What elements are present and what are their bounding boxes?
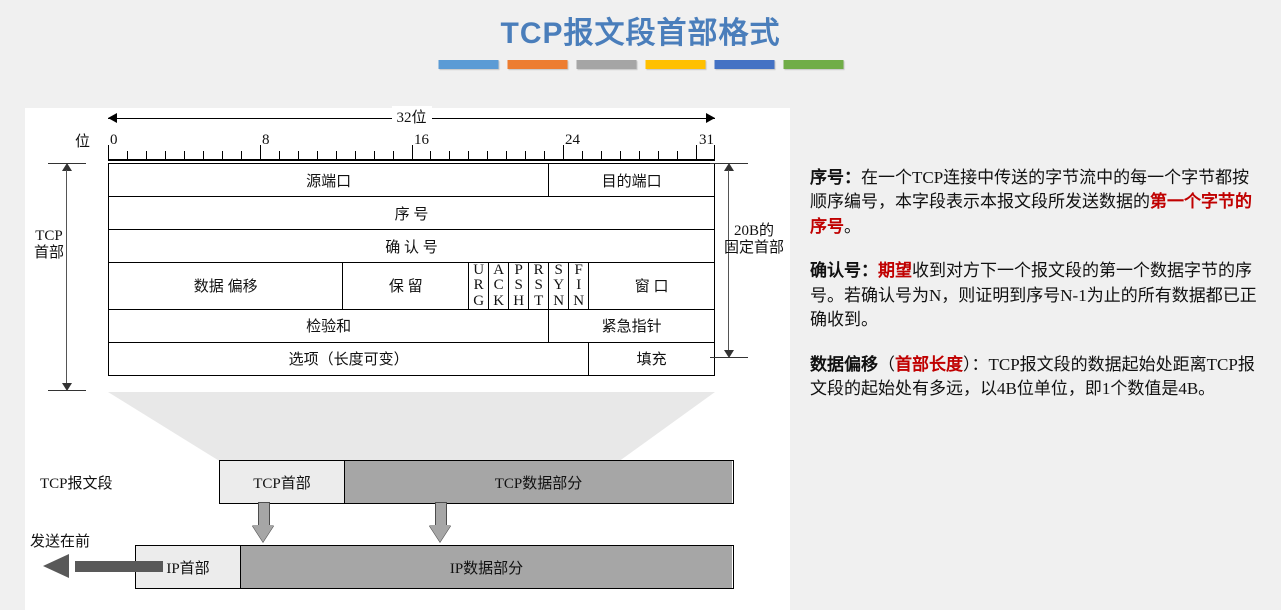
flag-letter: T [529, 294, 548, 309]
table-row: 检验和 紧急指针 [109, 309, 715, 342]
ruler-tick [260, 145, 261, 159]
flag-fin: FIN [569, 263, 589, 310]
note-text: 。 [844, 217, 861, 236]
flag-letter: C [489, 278, 508, 293]
flag-ack: ACK [489, 263, 509, 310]
slide-header: TCP报文段首部格式 [0, 0, 1281, 92]
ruler-tick [525, 151, 526, 159]
accent-bar-6 [783, 60, 843, 69]
ruler-label-31: 31 [699, 132, 714, 149]
bit-axis-label: 位 [75, 130, 90, 151]
field-destination-port: 目的端口 [549, 164, 715, 197]
ruler-tick [393, 151, 394, 159]
ruler-tick [696, 145, 697, 159]
table-row: 确 认 号 [109, 230, 715, 263]
ruler-tick [146, 151, 147, 159]
field-data-offset-line1: 数据 [194, 279, 224, 295]
tcp-header-block: TCP首部 [220, 461, 344, 503]
ip-datagram-row: IP首部 IP数据部分 [135, 545, 734, 589]
accent-bar-1 [438, 60, 498, 69]
ruler-tick [222, 151, 223, 159]
field-acknowledgement-number: 确 认 号 [109, 230, 715, 263]
tcp-header-span-line1: TCP [21, 228, 77, 245]
ruler-tick [203, 151, 204, 159]
flag-rst: RST [529, 263, 549, 310]
tcp-segment-row: TCP首部 TCP数据部分 [219, 460, 734, 504]
ruler-tick [449, 151, 450, 159]
field-data-offset: 数据 偏移 [109, 263, 343, 310]
note-paragraph-3: 数据偏移（首部长度）：TCP报文段的数据起始处距离TCP报文段的起始处有多远，以… [810, 353, 1265, 402]
flag-letter: S [549, 263, 568, 278]
flag-letter: G [469, 294, 488, 309]
flag-letter: K [489, 294, 508, 309]
flag-syn: SYN [549, 263, 569, 310]
field-source-port: 源端口 [109, 164, 549, 197]
ruler-tick [506, 151, 507, 159]
flag-letter: H [509, 294, 528, 309]
note-term: 序号： [810, 168, 861, 187]
ruler-tick [487, 151, 488, 159]
ip-data-block: IP数据部分 [240, 546, 732, 588]
flag-letter: F [569, 263, 588, 278]
flag-urg: URG [469, 263, 489, 310]
field-urgent-pointer: 紧急指针 [549, 309, 715, 342]
send-direction-arrow [43, 554, 163, 578]
tcp-data-block: TCP数据部分 [344, 461, 732, 503]
field-reserved: 保 留 [343, 263, 469, 310]
tcp-header-table: 源端口 目的端口 序 号 确 认 号 数据 偏移 保 留 URG ACK PSH… [108, 163, 715, 376]
ruler-tick [241, 151, 242, 159]
accent-bar-4 [645, 60, 705, 69]
ruler-tick [639, 151, 640, 159]
ruler-label-8: 8 [262, 132, 270, 149]
tcp-header-span-line2: 首部 [21, 245, 77, 262]
tcp-segment-row-label: TCP报文段 [40, 472, 113, 493]
tcp-header-span-label: TCP 首部 [21, 228, 77, 262]
field-sequence-number: 序 号 [109, 197, 715, 230]
accent-bar-5 [714, 60, 774, 69]
encapsulation-down-arrow-right [429, 502, 451, 542]
ruler-tick [601, 151, 602, 159]
width-arrow-label: 32位 [391, 106, 431, 127]
note-term: 确认号： [810, 261, 878, 280]
ruler-tick [677, 151, 678, 159]
ruler-tick [355, 151, 356, 159]
flag-letter: S [509, 278, 528, 293]
field-options: 选项（长度可变） [109, 342, 589, 375]
ruler-tick [127, 151, 128, 159]
notes-panel: 序号：在一个TCP连接中传送的字节流中的每一个字节都按顺序编号，本字段表示本报文… [810, 166, 1265, 422]
ruler-label-16: 16 [414, 132, 429, 149]
accent-bar-3 [576, 60, 636, 69]
flag-letter: R [469, 278, 488, 293]
ruler-tick [108, 145, 109, 159]
fixed-header-span-label: 20B的 固定首部 [715, 223, 793, 257]
fixed-header-span-arrow [723, 163, 735, 358]
field-window: 窗 口 [589, 263, 715, 310]
note-term: 数据偏移 [810, 355, 878, 374]
field-padding: 填充 [589, 342, 715, 375]
accent-bar-2 [507, 60, 567, 69]
ruler-label-0: 0 [110, 132, 118, 149]
flag-letter: U [469, 263, 488, 278]
ruler-tick [620, 151, 621, 159]
ruler-tick [298, 151, 299, 159]
ruler-tick [165, 151, 166, 159]
flag-letter: S [529, 278, 548, 293]
flag-letter: I [569, 278, 588, 293]
ruler-tick [582, 151, 583, 159]
ruler-tick [412, 145, 413, 159]
ruler-tick [336, 151, 337, 159]
ruler-tick [374, 151, 375, 159]
note-highlight: 期望 [878, 261, 912, 280]
page-title: TCP报文段首部格式 [0, 8, 1281, 52]
expansion-connector [108, 392, 715, 462]
flag-letter: P [509, 263, 528, 278]
fixed-header-span-line2: 固定首部 [715, 240, 793, 257]
ruler-tick [544, 151, 545, 159]
encapsulation-down-arrow-left [252, 502, 274, 542]
field-data-offset-line2: 偏移 [228, 279, 258, 295]
fixed-header-span-line1: 20B的 [715, 223, 793, 240]
ruler-tick [658, 151, 659, 159]
ruler-tick [279, 151, 280, 159]
bit-ruler: 08162431 [108, 132, 715, 162]
table-row: 序 号 [109, 197, 715, 230]
segment-width-arrow: 32位 [108, 110, 715, 128]
flag-psh: PSH [509, 263, 529, 310]
table-row: 选项（长度可变） 填充 [109, 342, 715, 375]
ruler-tick [430, 151, 431, 159]
note-paragraph-2: 确认号：期望收到对方下一个报文段的第一个数据字节的序号。若确认号为N，则证明到序… [810, 259, 1265, 332]
flag-letter: Y [549, 278, 568, 293]
tcp-header-span-arrow [61, 163, 73, 391]
ruler-tick [184, 151, 185, 159]
note-highlight: 首部长度 [895, 355, 963, 374]
note-paragraph-1: 序号：在一个TCP连接中传送的字节流中的每一个字节都按顺序编号，本字段表示本报文… [810, 166, 1265, 239]
accent-bar-group [438, 60, 843, 69]
ruler-tick [468, 151, 469, 159]
flag-letter: A [489, 263, 508, 278]
diagram-canvas: 位 32位 08162431 源端口 目的端口 序 号 确 认 号 数据 偏移 … [25, 108, 790, 610]
send-first-label: 发送在前 [30, 530, 90, 551]
ruler-tick [563, 145, 564, 159]
field-checksum: 检验和 [109, 309, 549, 342]
flag-letter: R [529, 263, 548, 278]
note-text: （ [878, 355, 895, 374]
flag-letter: N [569, 294, 588, 309]
ruler-label-24: 24 [565, 132, 580, 149]
table-row: 数据 偏移 保 留 URG ACK PSH RST SYN FIN 窗 口 [109, 263, 715, 310]
flag-letter: N [549, 294, 568, 309]
table-row: 源端口 目的端口 [109, 164, 715, 197]
ruler-tick [317, 151, 318, 159]
ruler-tick [714, 145, 715, 159]
